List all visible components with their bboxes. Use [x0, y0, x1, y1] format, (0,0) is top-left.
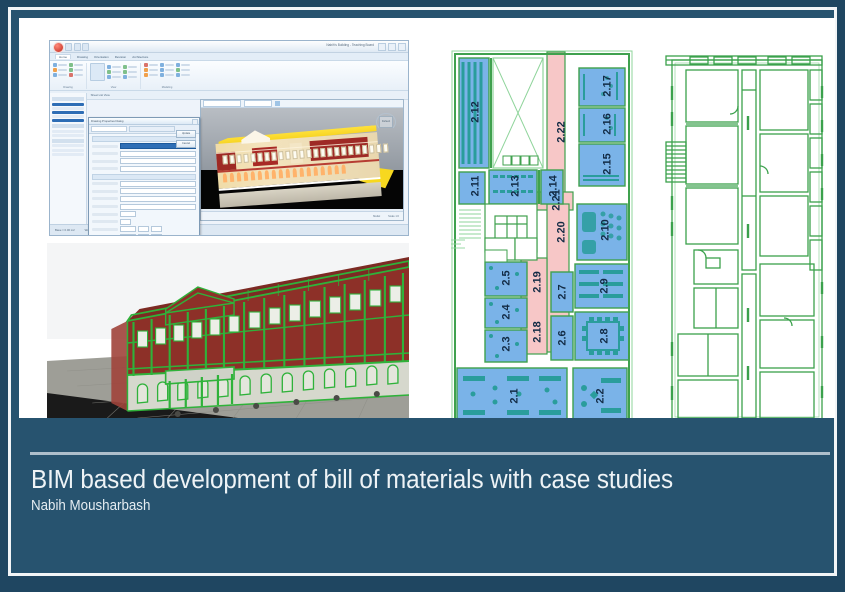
- field-label-gridscale: [92, 235, 118, 236]
- room-label-2-7: 2.7: [557, 284, 569, 299]
- category-select[interactable]: [203, 100, 241, 107]
- quick-access-toolbar[interactable]: [65, 43, 89, 51]
- room-label-2-12: 2.12: [470, 101, 482, 122]
- colour-floor-plan: 2.12 2.11 2.13 2.14 2.17 2.16 2.15 2.22 …: [451, 44, 633, 418]
- viewport-settings-icon[interactable]: [275, 101, 280, 106]
- ribbon-group-view[interactable]: View: [90, 63, 141, 89]
- room-label-2-16: 2.16: [602, 113, 614, 134]
- ribbon-button-scene-details[interactable]: [107, 70, 121, 74]
- tree-item[interactable]: [52, 153, 84, 156]
- ribbon-big-button-model-view[interactable]: [90, 63, 105, 81]
- room-label-2-5: 2.5: [501, 270, 513, 285]
- field-input-reviewed[interactable]: [120, 204, 196, 210]
- ribbon-button-wall-layers[interactable]: [69, 63, 83, 67]
- ribbon-button-compose[interactable]: [53, 73, 67, 77]
- dialog-update-button[interactable]: Update: [176, 130, 196, 138]
- room-label-2-2: 2.2: [595, 388, 607, 403]
- media-panel: Nabih's Building - Teaching Board Home D…: [19, 18, 835, 418]
- ribbon-button-export[interactable]: [160, 73, 174, 77]
- ribbon-button-object[interactable]: [176, 63, 190, 67]
- render-viewport[interactable]: Default: [200, 99, 404, 221]
- ribbon-button-publish-3d[interactable]: [107, 65, 121, 69]
- room-label-2-3: 2.3: [501, 336, 513, 351]
- ribbon-button-properties-2[interactable]: [160, 68, 174, 72]
- status-base-area: Base = 0.00 m2: [55, 228, 75, 232]
- room-label-2-20: 2.20: [556, 221, 568, 242]
- field-select-gridscale[interactable]: [120, 234, 136, 236]
- room-label-2-1: 2.1: [509, 388, 521, 403]
- ribbon-tab-home[interactable]: Home: [55, 54, 71, 59]
- dialog-field-gridscale[interactable]: [92, 234, 196, 236]
- field-label-reviewed: [92, 205, 118, 208]
- field-label-multiplier: [92, 220, 118, 223]
- poster-frame: Nabih's Building - Teaching Board Home D…: [8, 7, 837, 576]
- dialog-field-baseunits[interactable]: [92, 211, 196, 217]
- room-label-2-18: 2.18: [532, 321, 544, 342]
- room-label-2-17: 2.17: [602, 75, 614, 96]
- field-input-drawnby[interactable]: [120, 196, 196, 202]
- qat-save-icon[interactable]: [65, 43, 72, 51]
- tree-item[interactable]: [52, 107, 84, 110]
- cad-title-bar: Nabih's Building - Teaching Board: [50, 41, 408, 53]
- room-label-2-10: 2.10: [600, 219, 612, 240]
- field-label-baseunits: [92, 213, 118, 216]
- tree-item[interactable]: [52, 149, 84, 152]
- dialog-close-icon[interactable]: [192, 119, 198, 125]
- tree-group-header[interactable]: [52, 97, 84, 101]
- title-divider: [30, 452, 830, 455]
- ribbon-group-label-view: View: [90, 86, 137, 89]
- dialog-field-subtitle[interactable]: [92, 188, 196, 194]
- field-input-scaleheight2[interactable]: [151, 234, 162, 236]
- ribbon-button-text[interactable]: [144, 63, 158, 67]
- field-input-propfile[interactable]: [120, 166, 196, 172]
- ribbon-button-assign[interactable]: [176, 73, 190, 77]
- ribbon-group-label-modeling: Modeling: [144, 86, 190, 89]
- tree-item[interactable]: [52, 119, 84, 122]
- field-label-propfile: [92, 167, 118, 170]
- cad-workspace: Default: [50, 93, 408, 225]
- field-input-title[interactable]: [120, 181, 196, 187]
- ribbon-button-properties[interactable]: [53, 68, 67, 72]
- wireframe-floor-plan: [664, 46, 832, 418]
- room-label-2-11: 2.11: [469, 176, 481, 197]
- poster-slide: Nabih's Building - Teaching Board Home D…: [0, 0, 845, 592]
- ribbon-button-send-view[interactable]: [107, 75, 121, 79]
- dialog-title-bar: Drawing Properties Dialog: [89, 118, 199, 125]
- viewport-status-scale: Scale 1:0: [388, 215, 399, 218]
- tree-item[interactable]: [52, 130, 84, 133]
- dialog-field-folder[interactable]: [92, 151, 196, 157]
- room-label-2-8: 2.8: [599, 328, 611, 343]
- ribbon-button-bom[interactable]: [144, 73, 158, 77]
- tree-group-header[interactable]: [52, 124, 84, 128]
- dialog-field-reviewed[interactable]: [92, 204, 196, 210]
- ribbon-tab-revision[interactable]: Revision: [115, 55, 127, 59]
- ribbon-tab-strip[interactable]: Home Drawing Orientation Revision Archit…: [50, 53, 408, 61]
- view-cube-label: Default: [380, 117, 392, 127]
- render-facade: [216, 133, 381, 192]
- field-label-title: [92, 182, 118, 185]
- ribbon-button-sheet-layers[interactable]: [69, 68, 83, 72]
- ribbon-button-hatching[interactable]: [144, 68, 158, 72]
- room-label-2-19: 2.19: [532, 271, 544, 292]
- field-select-baseunits[interactable]: [120, 211, 136, 217]
- ribbon-button-add[interactable]: [53, 63, 67, 67]
- dialog-section-header: [92, 174, 196, 180]
- ribbon-group-label-drawing: Drawing: [53, 86, 83, 89]
- view-cube[interactable]: Default: [375, 112, 395, 130]
- field-input-multiplier[interactable]: [120, 219, 131, 225]
- ribbon-tab-orientation[interactable]: Orientation: [94, 55, 109, 59]
- field-input-subtitle[interactable]: [120, 188, 196, 194]
- dialog-field-propfile[interactable]: [92, 166, 196, 172]
- tree-item[interactable]: [52, 134, 84, 137]
- ribbon-button-navigation[interactable]: [123, 75, 137, 79]
- colour-render-building: [215, 125, 381, 199]
- filter-select[interactable]: [244, 100, 272, 107]
- room-label-2-13: 2.13: [510, 175, 522, 196]
- dialog-field-title[interactable]: [92, 181, 196, 187]
- dialog-field-drawnby[interactable]: [92, 196, 196, 202]
- field-input-folder[interactable]: [120, 151, 196, 157]
- dialog-tab-properties[interactable]: [91, 126, 127, 132]
- title-block: BIM based development of bill of materia…: [31, 466, 831, 514]
- qat-redo-icon[interactable]: [82, 43, 89, 51]
- room-label-2-9: 2.9: [599, 278, 611, 293]
- field-label-gridwidth: [92, 228, 118, 231]
- field-label-drawnby: [92, 197, 118, 200]
- field-label-folder: [92, 152, 118, 155]
- drawing-properties-dialog[interactable]: Drawing Properties Dialog: [88, 117, 200, 236]
- ribbon-button-wall[interactable]: [160, 63, 174, 67]
- viewport-status-bar: Model Scale 1:0: [201, 211, 403, 220]
- ribbon-button-add-manual[interactable]: [176, 68, 190, 72]
- dialog-button-group[interactable]: Update Cancel: [176, 130, 196, 148]
- dialog-tab-ranges[interactable]: [129, 126, 175, 132]
- tree-item-selected[interactable]: [52, 103, 84, 106]
- ribbon-tab-architecture[interactable]: Architecture: [132, 55, 148, 59]
- dialog-field-gridwidth[interactable]: [92, 226, 196, 232]
- field-input-scaleheight[interactable]: [138, 234, 149, 236]
- tree-group-header[interactable]: [52, 139, 84, 143]
- cad-application-window[interactable]: Nabih's Building - Teaching Board Home D…: [49, 40, 409, 236]
- close-icon[interactable]: [398, 43, 406, 51]
- tree-item[interactable]: [52, 144, 84, 147]
- ribbon-group-modeling[interactable]: Modeling: [144, 63, 193, 89]
- dialog-field-filename[interactable]: [92, 158, 196, 164]
- field-input-scalewidth2[interactable]: [151, 226, 162, 232]
- ribbon-button-shaded[interactable]: [123, 70, 137, 74]
- window-controls[interactable]: [378, 43, 406, 51]
- project-browser-panel[interactable]: [50, 93, 87, 225]
- field-label-name: [92, 145, 118, 148]
- ribbon-button-file-layers[interactable]: [69, 73, 83, 77]
- tree-item[interactable]: [52, 115, 84, 118]
- field-label-filename: [92, 160, 118, 163]
- wireframe-3d-model: [47, 243, 409, 418]
- room-label-2-21: 2.21: [551, 189, 563, 210]
- qat-undo-icon[interactable]: [74, 43, 81, 51]
- dialog-field-multiplier[interactable]: [92, 219, 196, 225]
- ribbon-panel[interactable]: Drawing: [50, 61, 408, 91]
- ribbon-button-wireframe[interactable]: [123, 65, 137, 69]
- room-label-2-6: 2.6: [557, 330, 569, 345]
- tree-item[interactable]: [52, 111, 84, 114]
- view-cube-face[interactable]: Default: [379, 116, 393, 128]
- ribbon-group-drawing[interactable]: Drawing: [53, 63, 87, 89]
- field-input-filename[interactable]: [120, 158, 196, 164]
- maximize-icon[interactable]: [388, 43, 396, 51]
- page-title: BIM based development of bill of materia…: [31, 466, 791, 495]
- poster-frame-inner: Nabih's Building - Teaching Board Home D…: [11, 10, 834, 573]
- viewport-toolbar[interactable]: [201, 100, 403, 108]
- cad-window-title: Nabih's Building - Teaching Board: [326, 43, 374, 47]
- room-label-2-22: 2.22: [556, 121, 568, 142]
- author-name: Nabih Mousharbash: [31, 498, 767, 514]
- ribbon-tab-drawing[interactable]: Drawing: [77, 55, 88, 59]
- field-select-gridwidth[interactable]: [120, 226, 136, 232]
- room-label-2-15: 2.15: [602, 153, 614, 174]
- app-orb-icon[interactable]: [53, 42, 64, 53]
- dialog-cancel-button[interactable]: Cancel: [176, 140, 196, 148]
- viewport-status-model: Model: [373, 215, 380, 218]
- dialog-title: Drawing Properties Dialog: [91, 119, 124, 123]
- minimize-icon[interactable]: [378, 43, 386, 51]
- room-label-2-4: 2.4: [501, 304, 513, 319]
- field-input-scalewidth[interactable]: [138, 226, 149, 232]
- field-label-subtitle: [92, 190, 118, 193]
